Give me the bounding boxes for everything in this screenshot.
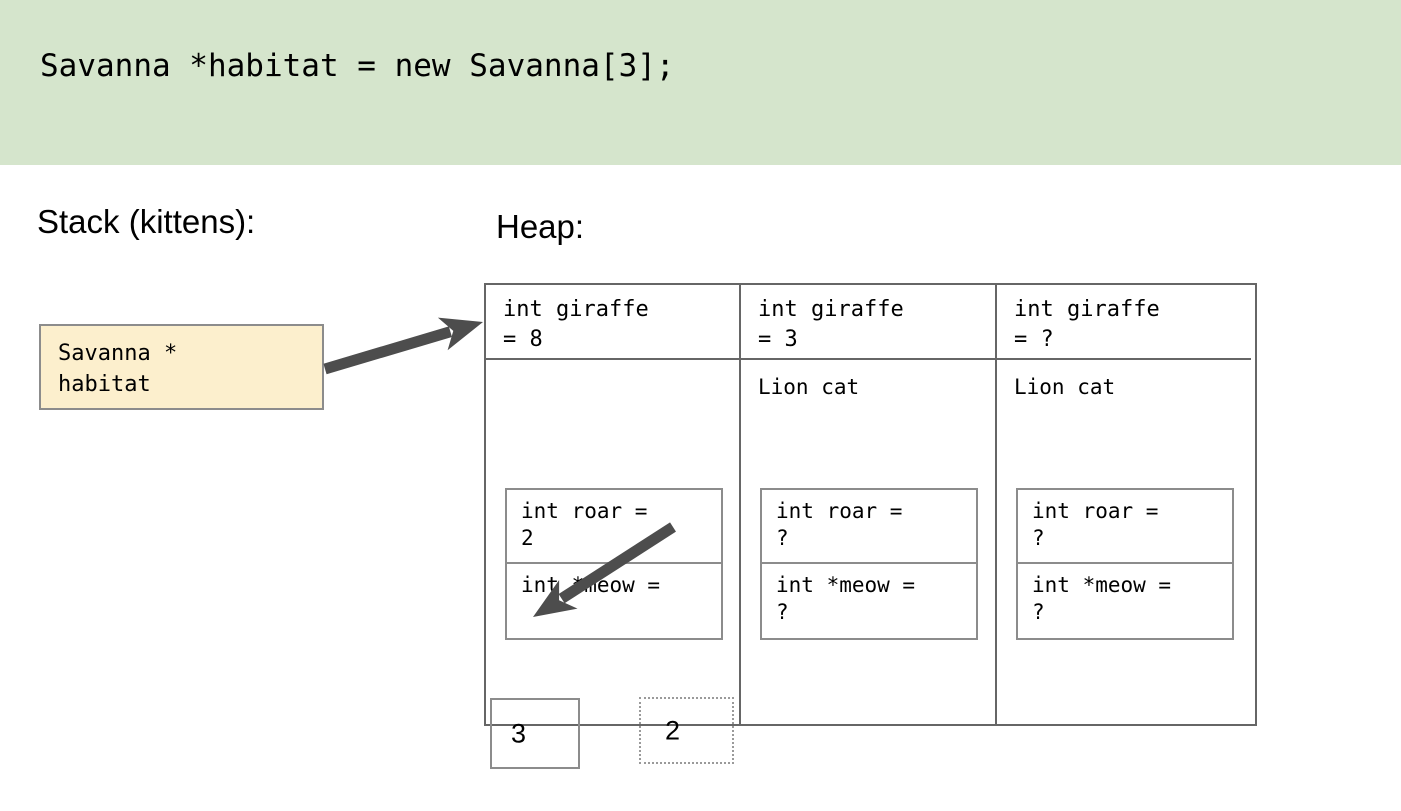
stack-heading: Stack (kittens):	[37, 203, 255, 241]
heap-cell-0-value-box-solid: 3	[490, 698, 580, 769]
habitat-to-heap-arrow	[438, 318, 483, 351]
heap-cell-2-body: Lion cat int roar = ? int *meow = ?	[997, 360, 1251, 724]
heap-cell-0-giraffe-field: int giraffe = 8	[486, 285, 739, 360]
heap-cell-1-body: Lion cat int roar = ? int *meow = ?	[741, 360, 995, 724]
heap-cell-2-giraffe-field: int giraffe = ?	[997, 285, 1251, 360]
heap-table: int giraffe = 8 int roar = 2 int *meow =…	[484, 283, 1257, 726]
heap-cell-1-meow-field: int *meow = ?	[762, 564, 976, 638]
heap-heading: Heap:	[496, 208, 584, 246]
heap-cell-0-lion-object: int roar = 2 int *meow =	[505, 488, 723, 640]
heap-cell-1-roar-field: int roar = ?	[762, 490, 976, 564]
code-banner: Savanna *habitat = new Savanna[3];	[0, 0, 1401, 165]
heap-cell-2-object-label: Lion cat	[1014, 374, 1115, 400]
heap-cell-1-object-label: Lion cat	[758, 374, 859, 400]
heap-cell-0-value-solid: 3	[511, 718, 526, 749]
heap-cell-0-roar-field: int roar = 2	[507, 490, 721, 564]
code-statement: Savanna *habitat = new Savanna[3];	[40, 48, 675, 84]
heap-cell-1-lion-object: int roar = ? int *meow = ?	[760, 488, 978, 640]
heap-cell-0-body: int roar = 2 int *meow = 3 2	[486, 360, 739, 724]
heap-cell-2-lion-object: int roar = ? int *meow = ?	[1016, 488, 1234, 640]
stack-variable-box: Savanna * habitat	[39, 324, 324, 410]
heap-cell-0-value-dotted: 2	[665, 715, 680, 746]
heap-cell-0: int giraffe = 8 int roar = 2 int *meow =…	[486, 285, 741, 724]
stack-variable-label: Savanna * habitat	[58, 338, 177, 400]
heap-cell-2-roar-field: int roar = ?	[1018, 490, 1232, 564]
heap-cell-2: int giraffe = ? Lion cat int roar = ? in…	[997, 285, 1251, 724]
heap-cell-2-meow-field: int *meow = ?	[1018, 564, 1232, 638]
heap-cell-1-giraffe-field: int giraffe = 3	[741, 285, 995, 360]
heap-cell-0-value-box-dotted: 2	[639, 697, 734, 764]
heap-cell-1: int giraffe = 3 Lion cat int roar = ? in…	[741, 285, 997, 724]
heap-cell-0-meow-field: int *meow =	[507, 564, 721, 638]
